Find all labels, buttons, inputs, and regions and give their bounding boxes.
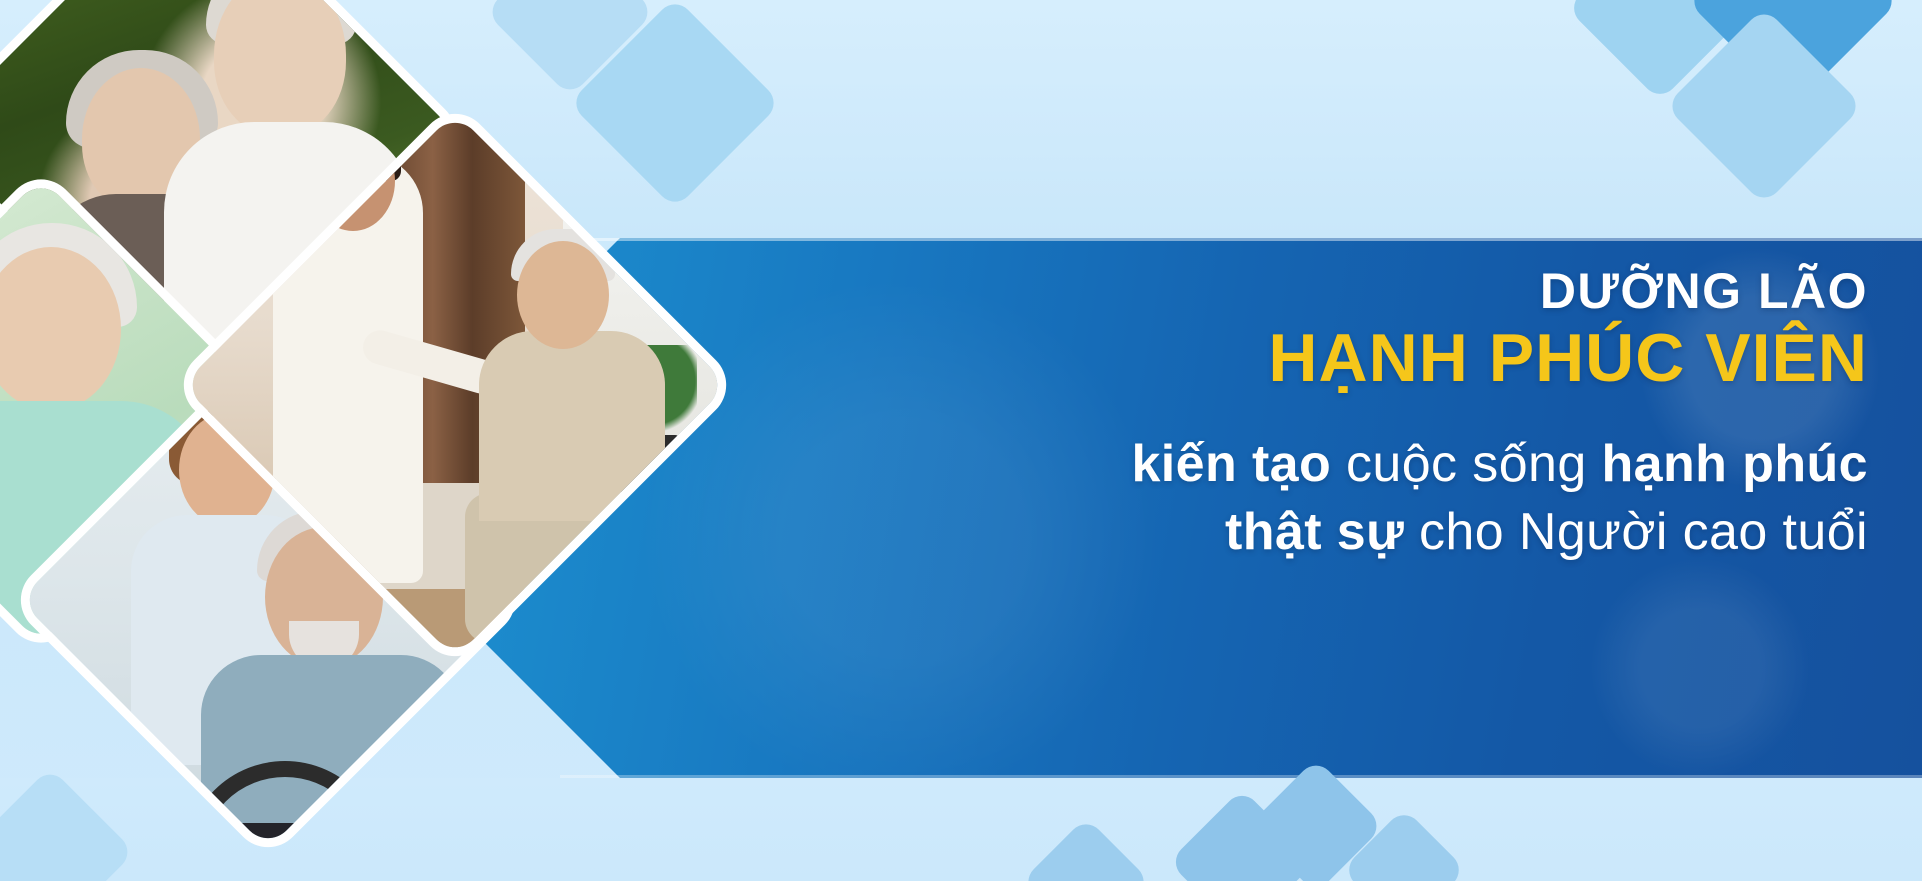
tagline-2-strong: thật sự bbox=[1225, 503, 1404, 561]
tagline-1-plain: cuộc sống bbox=[1331, 435, 1601, 493]
hero-banner: DƯỠNG LÃO HẠNH PHÚC VIÊN kiến tạo cuộc s… bbox=[0, 0, 1922, 881]
panel-bottom-edge bbox=[560, 775, 1922, 778]
headline-brand-name: HẠNH PHÚC VIÊN bbox=[1048, 324, 1868, 392]
panel-top-edge bbox=[560, 238, 1922, 241]
tagline-2-plain: cho Người cao tuổi bbox=[1404, 503, 1868, 561]
headline-kicker: DƯỠNG LÃO bbox=[1048, 266, 1868, 316]
tagline-line-2: thật sự cho Người cao tuổi bbox=[1048, 506, 1868, 558]
tagline-line-1: kiến tạo cuộc sống hạnh phúc bbox=[1048, 438, 1868, 490]
tagline-1-strong-b: hạnh phúc bbox=[1602, 435, 1868, 493]
headline-copy-block: DƯỠNG LÃO HẠNH PHÚC VIÊN kiến tạo cuộc s… bbox=[1048, 266, 1868, 574]
tagline-1-strong-a: kiến tạo bbox=[1131, 435, 1331, 493]
